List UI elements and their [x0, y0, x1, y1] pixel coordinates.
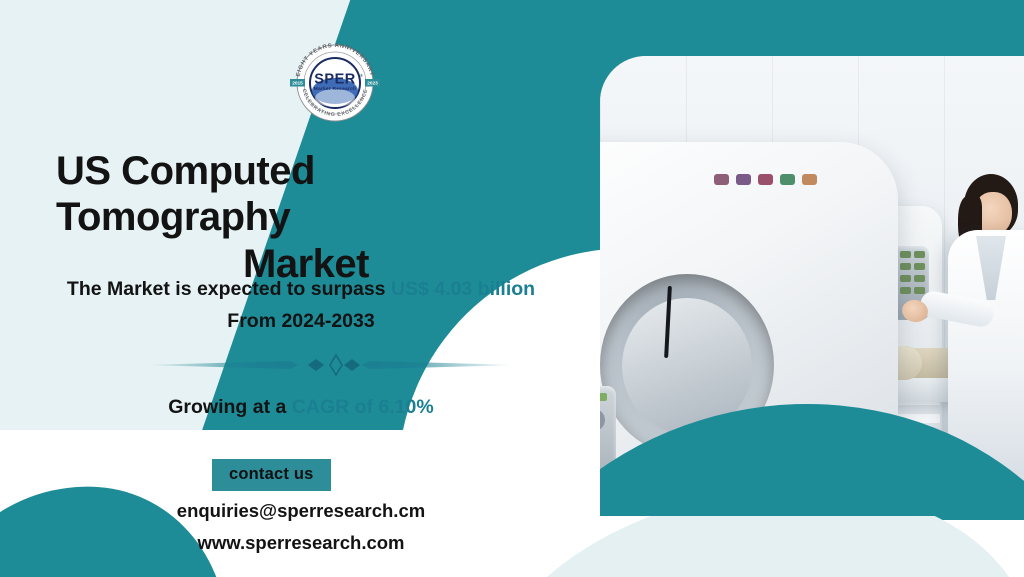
logo-year-from: 2015 [292, 81, 303, 87]
logo-registered-mark: ® [360, 73, 363, 78]
logo-year-to: 2023 [367, 81, 378, 87]
scanner-bore-inner [622, 298, 752, 434]
contact-us-badge[interactable]: contact us [212, 459, 331, 491]
scanner-bore [600, 274, 774, 456]
technician-figure [942, 174, 1024, 504]
marketing-banner: EIGHT YEARS ANNIVERSARY CELEBRATING EXCE… [0, 0, 1024, 577]
ornamental-divider [140, 350, 520, 380]
gantry-indicator-pill [758, 174, 773, 185]
gantry-indicator-pills [714, 174, 817, 185]
market-value-prefix: The Market is expected to surpass [67, 278, 391, 300]
gantry-indicator-pill [714, 174, 729, 185]
logo-tagline-text: Market Research [314, 86, 357, 92]
cagr-statement: Growing at a CAGR of 6.10% [56, 396, 546, 419]
gantry-indicator-pill [802, 174, 817, 185]
cagr-prefix: Growing at a [168, 396, 292, 418]
cagr-value: CAGR of 6.10% [292, 396, 434, 418]
market-value-amount: 4.03 billion [434, 278, 535, 300]
gantry-indicator-pill [736, 174, 751, 185]
gantry-control-pad [600, 386, 616, 482]
logo-brand-text: SPER [314, 72, 356, 88]
ct-scanner-photo [600, 56, 1024, 516]
gantry-indicator-pill [780, 174, 795, 185]
patient-table-base [750, 396, 940, 506]
market-value-currency: US$ [391, 278, 429, 300]
teal-blob-bottom-left-shape [0, 476, 237, 577]
ct-scanner-gantry [600, 142, 898, 494]
market-value-statement: The Market is expected to surpass US$ 4.… [56, 274, 546, 337]
page-title: US Computed Tomography Market [56, 148, 556, 287]
sper-anniversary-logo: EIGHT YEARS ANNIVERSARY CELEBRATING EXCE… [285, 33, 385, 133]
contact-email[interactable]: enquiries@sperresearch.cm [56, 500, 546, 522]
page-title-line-1: US Computed Tomography [56, 149, 315, 239]
market-value-period: From 2024-2033 [227, 310, 374, 332]
contact-website[interactable]: www.sperresearch.com [56, 532, 546, 554]
